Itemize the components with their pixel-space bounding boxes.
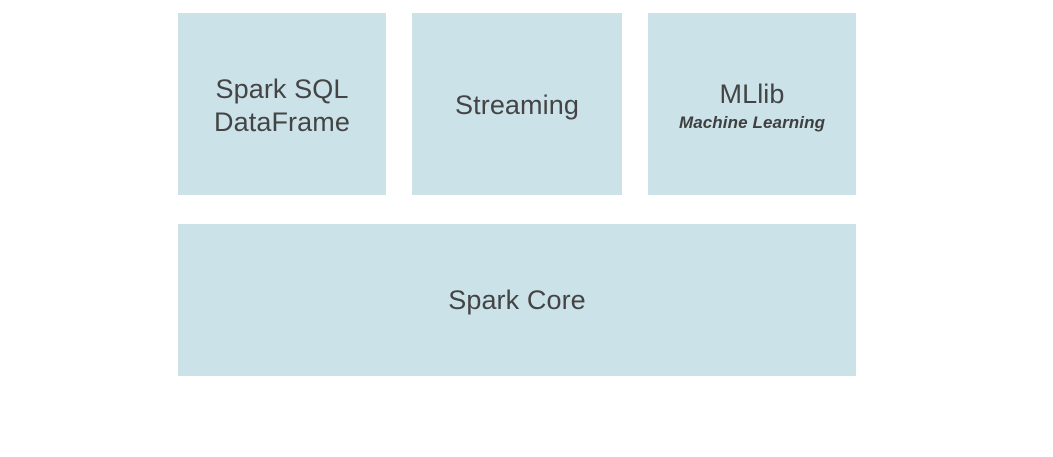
component-box-spark-core[interactable]: Spark Core bbox=[178, 224, 856, 376]
spark-stack-diagram: Spark SQL DataFrame Streaming MLlib Mach… bbox=[0, 0, 1053, 457]
component-title-spark-core: Spark Core bbox=[448, 284, 586, 317]
component-title-streaming: Streaming bbox=[455, 89, 579, 122]
component-box-spark-sql[interactable]: Spark SQL DataFrame bbox=[178, 13, 386, 195]
component-title-spark-sql: Spark SQL DataFrame bbox=[214, 73, 350, 139]
component-box-mllib[interactable]: MLlib Machine Learning bbox=[648, 13, 856, 195]
component-subtitle-mllib: Machine Learning bbox=[679, 112, 825, 134]
component-title-mllib: MLlib bbox=[719, 78, 784, 111]
component-box-streaming[interactable]: Streaming bbox=[412, 13, 622, 195]
